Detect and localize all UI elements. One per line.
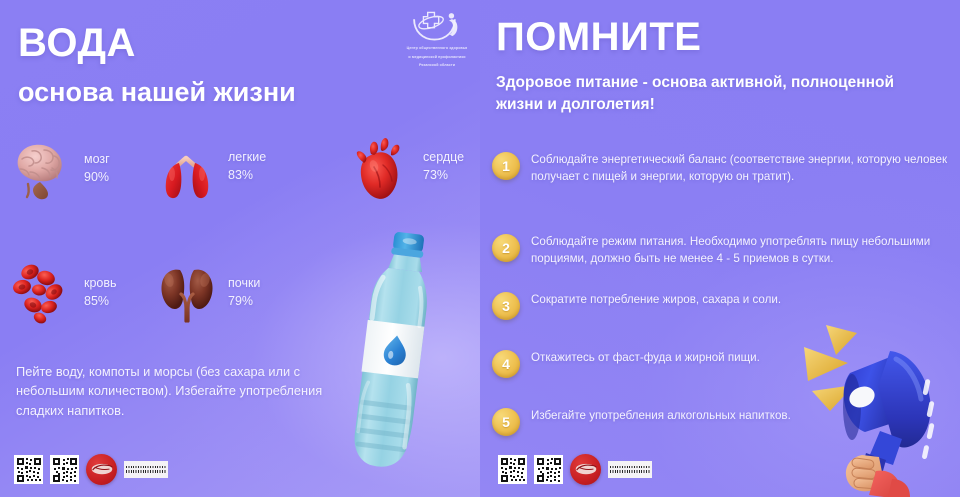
qr-code-icon[interactable] [14, 455, 43, 484]
page-title: ПОМНИТЕ [496, 16, 701, 58]
status-badge: 4 [492, 350, 520, 378]
organ-label: кровь 85% [84, 275, 117, 311]
megaphone-icon [804, 319, 960, 497]
organ-item-kidneys: почки 79% [150, 256, 260, 330]
red-stamp-badge [570, 454, 601, 485]
organ-percent: 83% [228, 167, 266, 185]
lungs-icon [150, 130, 224, 204]
red-stamp-badge [86, 454, 117, 485]
health-cross-emblem-icon [409, 9, 465, 43]
organ-label: мозг 90% [84, 151, 110, 187]
page-subtitle: Здоровое питание - основа активной, полн… [496, 72, 896, 116]
organ-item-brain: мозг 90% [6, 132, 110, 206]
footer-codes-right [498, 454, 652, 485]
organ-label: легкие 83% [228, 149, 266, 185]
list-item-text: Соблюдайте режим питания. Необходимо упо… [531, 233, 948, 267]
qr-code-icon[interactable] [498, 455, 527, 484]
list-item: 3 Сократите потребление жиров, сахара и … [492, 291, 948, 320]
organ-label: почки 79% [228, 275, 260, 311]
heart-icon [345, 130, 419, 204]
status-badge: 5 [492, 408, 520, 436]
organ-percent: 90% [84, 169, 110, 187]
organ-percent: 73% [423, 167, 464, 185]
organ-percent: 85% [84, 293, 117, 311]
logo-line-1: Центр общественного здоровья [382, 45, 480, 52]
logo-line-2: и медицинской профилактики [382, 54, 480, 61]
list-item-text: Сократите потребление жиров, сахара и со… [531, 291, 781, 308]
blood-cells-icon [6, 256, 80, 330]
infographic-poster: ВОДА основа нашей жизни [0, 0, 960, 497]
organ-percent: 79% [228, 293, 260, 311]
kidneys-icon [150, 256, 224, 330]
organ-item-blood: кровь 85% [6, 256, 117, 330]
water-advice-text: Пейте воду, компоты и морсы (без сахара … [16, 362, 346, 420]
organ-item-lungs: легкие 83% [150, 130, 266, 204]
status-badge: 2 [492, 234, 520, 262]
list-item-text: Избегайте употребления алкогольных напит… [531, 407, 791, 424]
logo-line-3: Рязанской области [382, 62, 480, 69]
barcode-label [608, 461, 652, 478]
water-bottle-icon [348, 228, 452, 478]
page-title: ВОДА [18, 22, 136, 64]
health-center-logo: Центр общественного здоровья и медицинск… [382, 9, 480, 69]
brain-icon [6, 132, 80, 206]
status-badge: 3 [492, 292, 520, 320]
organ-label: сердце 73% [423, 149, 464, 185]
list-item: 1 Соблюдайте энергетический баланс (соот… [492, 151, 948, 185]
footer-codes-left [14, 454, 168, 485]
page-subtitle: основа нашей жизни [18, 78, 296, 108]
list-item-text: Откажитесь от фаст-фуда и жирной пищи. [531, 349, 760, 366]
water-panel: ВОДА основа нашей жизни [0, 0, 480, 497]
qr-code-icon[interactable] [50, 455, 79, 484]
remember-panel: ПОМНИТЕ Здоровое питание - основа активн… [480, 0, 960, 497]
barcode-label [124, 461, 168, 478]
qr-code-icon[interactable] [534, 455, 563, 484]
list-item: 2 Соблюдайте режим питания. Необходимо у… [492, 233, 948, 267]
status-badge: 1 [492, 152, 520, 180]
list-item-text: Соблюдайте энергетический баланс (соотве… [531, 151, 948, 185]
organ-item-heart: сердце 73% [345, 130, 464, 204]
